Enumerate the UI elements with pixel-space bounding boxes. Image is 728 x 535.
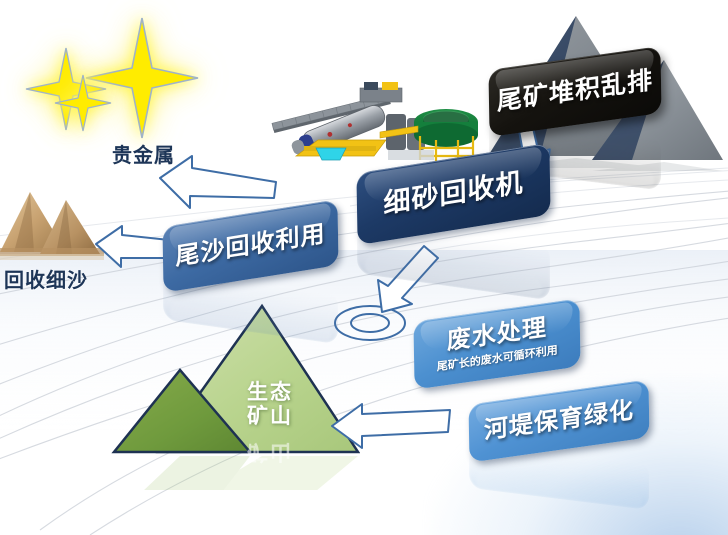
node-tailings-dumping-label: 尾矿堆积乱排: [497, 67, 653, 115]
arrow-up-left-icon: [152, 150, 282, 220]
machine-render-icon: [268, 60, 480, 170]
arrow-left-icon: [326, 392, 456, 456]
node-fine-sand-recovery-machine-label: 细砂回收机: [383, 169, 523, 219]
star-icon: [52, 72, 114, 134]
eco-mine-label: 生态 矿山: [225, 380, 315, 428]
caption-recycled-sand: 回收细沙: [4, 264, 88, 293]
node-riverbank-greening-label: 河堤保育绿化: [484, 398, 634, 444]
eco-mine-label-reflection: 矿山: [225, 440, 315, 464]
slide-canvas: 贵金属 回收细沙: [0, 0, 728, 535]
node-tailings-sand-reuse-label: 尾沙回收利用: [175, 222, 325, 271]
eco-mine-line1: 生态: [225, 380, 315, 404]
eco-mine-reflection-line: 矿山: [225, 440, 315, 464]
eco-mine-line2: 矿山: [225, 404, 315, 428]
